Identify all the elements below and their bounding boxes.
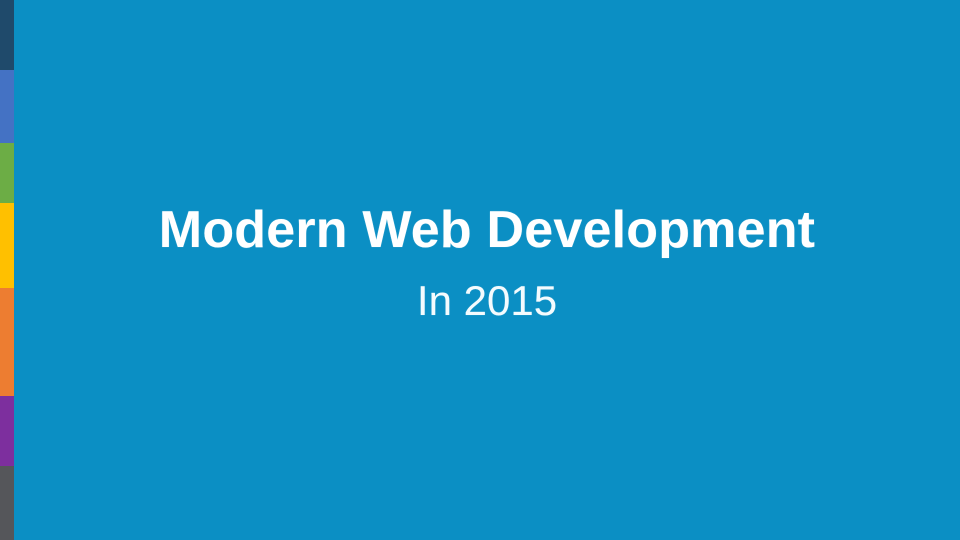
title-block: Modern Web Development In 2015: [14, 0, 960, 540]
accent-segment-purple: [0, 396, 14, 466]
accent-color-bar: [0, 0, 14, 540]
accent-segment-navy: [0, 0, 14, 70]
slide-title: Modern Web Development: [14, 203, 960, 258]
accent-segment-green: [0, 143, 14, 203]
accent-segment-gray: [0, 466, 14, 540]
title-slide: Modern Web Development In 2015: [0, 0, 960, 540]
slide-subtitle: In 2015: [14, 279, 960, 323]
accent-segment-blue-violet: [0, 70, 14, 143]
accent-segment-yellow: [0, 203, 14, 288]
accent-segment-orange: [0, 288, 14, 396]
